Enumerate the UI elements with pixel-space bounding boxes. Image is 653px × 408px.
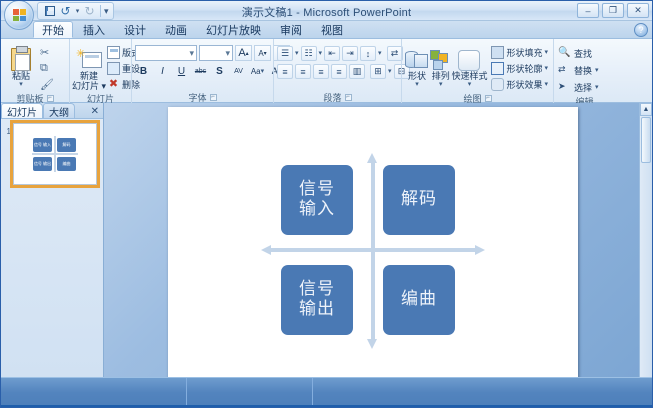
decrease-indent-icon: ⇤ [328, 48, 336, 59]
thumbnail-row: 1 信号 输入 解码 信号 输出 编曲 [4, 123, 100, 185]
quadrant-label-signal-output: 信号 输出 [299, 280, 335, 318]
thumb-quadrant-tl: 信号 输入 [33, 138, 52, 152]
strikethrough-button[interactable]: abc [192, 63, 209, 79]
paragraph-group-label: 段落 ⌐ [277, 91, 398, 103]
quadrant-label-decode: 解码 [401, 190, 437, 209]
find-button[interactable]: 🔍 查找 [557, 46, 592, 61]
slide-canvas[interactable]: 信号 输入 解码 信号 输出 编曲 [168, 107, 578, 394]
copy-button[interactable]: ⧉ [38, 61, 55, 76]
arrange-icon [430, 45, 452, 71]
font-label-text: 字体 [188, 91, 206, 104]
new-slide-icon: ✳ [76, 45, 102, 71]
ribbon: 粘贴 ▾ ✂ ⧉ 🖌 剪贴板 ⌐ [1, 39, 652, 103]
tab-slideshow[interactable]: 幻灯片放映 [197, 21, 270, 38]
strikethrough-icon: abc [195, 68, 206, 75]
ribbon-group-font: ▾ ▾ A▴ A▾ ✧ B I [131, 39, 273, 103]
font-name-combo[interactable]: ▾ [135, 45, 197, 61]
justify-button[interactable]: ≡ [331, 64, 347, 79]
font-size-combo[interactable]: ▾ [199, 45, 233, 61]
shape-fill-label: 形状填充 [506, 46, 542, 59]
title-bar: ↺ ▾ ↻ ▾ 演示文稿1 - Microsoft PowerPoint – ❐… [1, 1, 652, 21]
align-text-dropdown-arrow[interactable]: ▾ [388, 69, 392, 74]
office-logo-icon [13, 9, 27, 22]
delete-icon: ✖ [107, 78, 120, 91]
shape-outline-arrow[interactable]: ▾ [544, 66, 548, 71]
italic-icon: I [161, 66, 164, 77]
shape-fill-button[interactable]: 形状填充 ▾ [489, 45, 550, 60]
ribbon-group-slides: ✳ 新建 幻灯片 ▾ 版式 ▾ 重设 ✖ [69, 39, 131, 103]
text-shadow-button[interactable]: S [211, 63, 228, 79]
grow-font-button[interactable]: A▴ [235, 45, 252, 61]
quadrant-box-decode[interactable]: 解码 [383, 165, 455, 235]
window-title: 演示文稿1 - Microsoft PowerPoint [1, 4, 652, 20]
tab-home[interactable]: 开始 [33, 21, 73, 38]
shape-effects-label: 形状效果 [506, 78, 542, 91]
new-slide-label-2: 幻灯片 ▾ [72, 82, 106, 91]
shape-outline-icon [491, 62, 504, 75]
find-icon: 🔍 [558, 47, 571, 60]
align-left-button[interactable]: ≡ [277, 64, 293, 79]
quick-styles-button[interactable]: 快速样式 ▾ [452, 43, 486, 87]
format-painter-button[interactable]: 🖌 [38, 77, 55, 92]
columns-icon: ▥ [353, 66, 362, 77]
font-group-label: 字体 ⌐ [135, 91, 270, 103]
shape-effects-icon [491, 78, 504, 91]
font-dialog-launcher[interactable]: ⌐ [210, 94, 217, 101]
line-spacing-icon: ↕ [366, 49, 371, 59]
columns-button[interactable]: ▥ [349, 64, 365, 79]
smartart-matrix-diagram[interactable]: 信号 输入 解码 信号 输出 编曲 [261, 153, 485, 349]
shrink-font-button[interactable]: A▾ [254, 45, 271, 61]
align-right-button[interactable]: ≡ [313, 64, 329, 79]
ribbon-group-editing: 🔍 查找 ⇄ 替换 ▾ ➤ 选择 ▾ 编辑 [553, 39, 615, 103]
tab-animations[interactable]: 动画 [156, 21, 196, 38]
paste-dropdown-arrow[interactable]: ▾ [19, 82, 23, 87]
cut-button[interactable]: ✂ [38, 45, 55, 60]
shadow-icon: S [216, 66, 223, 77]
slide-thumbnails: 1 信号 输入 解码 信号 输出 编曲 [1, 119, 103, 408]
shapes-label: 形状 [408, 72, 426, 81]
align-center-button[interactable]: ≡ [295, 64, 311, 79]
underline-icon: U [178, 66, 185, 77]
close-pane-icon[interactable]: ✕ [91, 106, 99, 117]
layout-icon [107, 46, 120, 59]
font-row-2: B I U abc S AV Aa▾ A▾ [135, 63, 285, 79]
numbering-icon: ☷ [304, 48, 312, 59]
bullets-icon: ☰ [281, 48, 289, 59]
quick-styles-dropdown-arrow[interactable]: ▾ [468, 82, 472, 87]
align-text-button[interactable]: ⊞ [370, 64, 386, 79]
arrow-head-down [367, 339, 377, 349]
numbering-button[interactable]: ☷ [301, 46, 317, 61]
text-direction-icon: ⇄ [391, 48, 399, 59]
select-button[interactable]: ➤ 选择 ▾ [557, 80, 599, 95]
shape-effects-button[interactable]: 形状效果 ▾ [489, 77, 550, 92]
spacing-icon: AV [234, 68, 243, 75]
arrange-dropdown-arrow[interactable]: ▾ [439, 82, 443, 87]
replace-icon: ⇄ [558, 64, 571, 77]
align-right-icon: ≡ [318, 67, 323, 77]
clipboard-small-buttons: ✂ ⧉ 🖌 [38, 43, 55, 92]
line-spacing-dropdown-arrow[interactable]: ▾ [378, 51, 382, 56]
arrange-label: 排列 [432, 72, 450, 81]
arrow-head-up [367, 153, 377, 163]
drawing-dialog-launcher[interactable]: ⌐ [485, 95, 492, 102]
paragraph-dialog-launcher[interactable]: ⌐ [345, 94, 352, 101]
increase-indent-icon: ⇥ [346, 48, 354, 59]
thumbnail-diagram: 信号 输入 解码 信号 输出 编曲 [32, 136, 78, 172]
thumb-vertical-arrow [54, 136, 56, 172]
underline-button[interactable]: U [173, 63, 190, 79]
scrollbar-thumb[interactable] [641, 117, 651, 163]
select-label: 选择 [574, 81, 592, 94]
window-bottom-border [1, 405, 652, 407]
close-button[interactable]: ✕ [627, 3, 649, 18]
quadrant-box-signal-output[interactable]: 信号 输出 [281, 265, 353, 335]
thumb-quadrant-tr: 解码 [57, 138, 76, 152]
tab-design[interactable]: 设计 [115, 21, 155, 38]
justify-icon: ≡ [336, 67, 341, 77]
tab-review[interactable]: 审阅 [271, 21, 311, 38]
scissors-icon: ✂ [40, 46, 53, 59]
vertical-double-arrow [367, 153, 378, 349]
change-case-button[interactable]: Aa▾ [249, 63, 266, 79]
help-icon[interactable]: ? [634, 23, 648, 37]
numbering-dropdown-arrow[interactable]: ▾ [319, 51, 323, 56]
line-spacing-button[interactable]: ↕ [360, 46, 376, 61]
powerpoint-window: ↺ ▾ ↻ ▾ 演示文稿1 - Microsoft PowerPoint – ❐… [0, 0, 653, 408]
bold-button[interactable]: B [135, 63, 152, 79]
shape-fill-icon [491, 46, 504, 59]
status-cell-left [1, 378, 187, 408]
replace-arrow[interactable]: ▾ [595, 68, 599, 73]
copy-icon: ⧉ [40, 62, 53, 75]
quadrant-box-arrangement[interactable]: 编曲 [383, 265, 455, 335]
align-left-icon: ≡ [282, 67, 287, 77]
select-arrow[interactable]: ▾ [595, 85, 599, 90]
scroll-up-button[interactable]: ▲ [640, 103, 652, 116]
minimize-button[interactable]: – [577, 3, 599, 18]
slide-number: 1 [4, 123, 11, 136]
status-bar [1, 377, 652, 407]
thumbnail-content: 信号 输入 解码 信号 输出 编曲 [17, 127, 93, 181]
ribbon-tabs: 开始 插入 设计 动画 幻灯片放映 审阅 视图 ? [1, 21, 652, 39]
cursor-icon: ➤ [558, 81, 571, 94]
thumb-quadrant-bl: 信号 输出 [33, 157, 52, 171]
replace-label: 替换 [574, 64, 592, 77]
shape-outline-button[interactable]: 形状轮廓 ▾ [489, 61, 550, 76]
align-text-icon: ⊞ [374, 66, 382, 77]
paste-icon [11, 45, 31, 71]
ribbon-group-paragraph: ☰ ▾ ☷ ▾ ⇤ ⇥ ↕ ▾ ⇄ ≡ ≡ ≡ ≡ ▥ ⊞ ▾ [273, 39, 401, 103]
vertical-arrow-bar [371, 163, 375, 339]
quadrant-box-signal-input[interactable]: 信号 输入 [281, 165, 353, 235]
office-button[interactable] [4, 0, 34, 30]
restore-button[interactable]: ❐ [602, 3, 624, 18]
bullets-dropdown-arrow[interactable]: ▾ [295, 51, 299, 56]
clipboard-dialog-launcher[interactable]: ⌐ [47, 95, 54, 102]
shapes-button[interactable]: 形状 ▾ [405, 43, 429, 87]
shapes-icon [405, 45, 429, 71]
shape-outline-label: 形状轮廓 [506, 62, 542, 75]
arrange-button[interactable]: 排列 ▾ [429, 43, 452, 87]
shape-fill-arrow[interactable]: ▾ [544, 50, 548, 55]
pane-tab-slides[interactable]: 幻灯片 [1, 103, 43, 118]
thumb-quadrant-br: 编曲 [57, 157, 76, 171]
replace-button[interactable]: ⇄ 替换 ▾ [557, 63, 599, 78]
tab-insert[interactable]: 插入 [74, 21, 114, 38]
quadrant-label-arrangement: 编曲 [401, 290, 437, 309]
quick-styles-label: 快速样式 [451, 72, 487, 81]
paste-label: 粘贴 [12, 72, 30, 81]
workspace: 幻灯片 大纲 ✕ 1 信号 输入 解码 信号 输出 [1, 103, 652, 408]
status-cell-middle [187, 378, 313, 408]
arrow-head-right [475, 245, 485, 255]
italic-button[interactable]: I [154, 63, 171, 79]
increase-indent-button[interactable]: ⇥ [342, 46, 358, 61]
paragraph-label-text: 段落 [323, 91, 341, 104]
scrollbar-track[interactable] [640, 164, 652, 395]
bold-icon: B [140, 66, 147, 77]
find-label: 查找 [574, 47, 592, 60]
bullets-button[interactable]: ☰ [277, 46, 293, 61]
ribbon-group-drawing: 形状 ▾ 排列 ▾ 快速样式 ▾ 形状填充 ▾ [401, 39, 553, 103]
ribbon-group-clipboard: 粘贴 ▾ ✂ ⧉ 🖌 剪贴板 ⌐ [1, 39, 69, 103]
paragraph-row-1: ☰ ▾ ☷ ▾ ⇤ ⇥ ↕ ▾ ⇄ [277, 46, 403, 61]
reset-icon [107, 62, 120, 75]
paste-button[interactable]: 粘贴 ▾ [4, 43, 38, 87]
align-center-icon: ≡ [300, 67, 305, 77]
shape-effects-arrow[interactable]: ▾ [544, 82, 548, 87]
slides-pane: 幻灯片 大纲 ✕ 1 信号 输入 解码 信号 输出 [1, 103, 104, 408]
character-spacing-button[interactable]: AV [230, 63, 247, 79]
quick-styles-icon [458, 45, 480, 71]
slide-editing-area[interactable]: 信号 输入 解码 信号 输出 编曲 ▲ ▼ [104, 103, 652, 408]
new-slide-button[interactable]: ✳ 新建 幻灯片 ▾ [73, 43, 105, 92]
arrow-head-left [261, 245, 271, 255]
tab-view[interactable]: 视图 [312, 21, 352, 38]
font-row-1: ▾ ▾ A▴ A▾ ✧ [135, 45, 290, 61]
pane-tab-outline[interactable]: 大纲 [43, 103, 75, 118]
vertical-scrollbar[interactable]: ▲ ▼ [639, 103, 652, 408]
slide-thumbnail-1[interactable]: 信号 输入 解码 信号 输出 编曲 [13, 123, 97, 185]
case-icon: Aa [251, 67, 261, 76]
grow-font-icon: A [238, 47, 245, 59]
paragraph-row-2: ≡ ≡ ≡ ≡ ▥ ⊞ ▾ ⊟ [277, 64, 410, 79]
window-controls: – ❐ ✕ [577, 3, 649, 18]
drawing-small-buttons: 形状填充 ▾ 形状轮廓 ▾ 形状效果 ▾ [489, 43, 550, 92]
quadrant-label-signal-input: 信号 输入 [299, 180, 335, 218]
shapes-dropdown-arrow[interactable]: ▾ [415, 82, 419, 87]
paintbrush-icon: 🖌 [40, 78, 53, 91]
slides-pane-tabs: 幻灯片 大纲 ✕ [1, 103, 103, 119]
decrease-indent-button[interactable]: ⇤ [324, 46, 340, 61]
